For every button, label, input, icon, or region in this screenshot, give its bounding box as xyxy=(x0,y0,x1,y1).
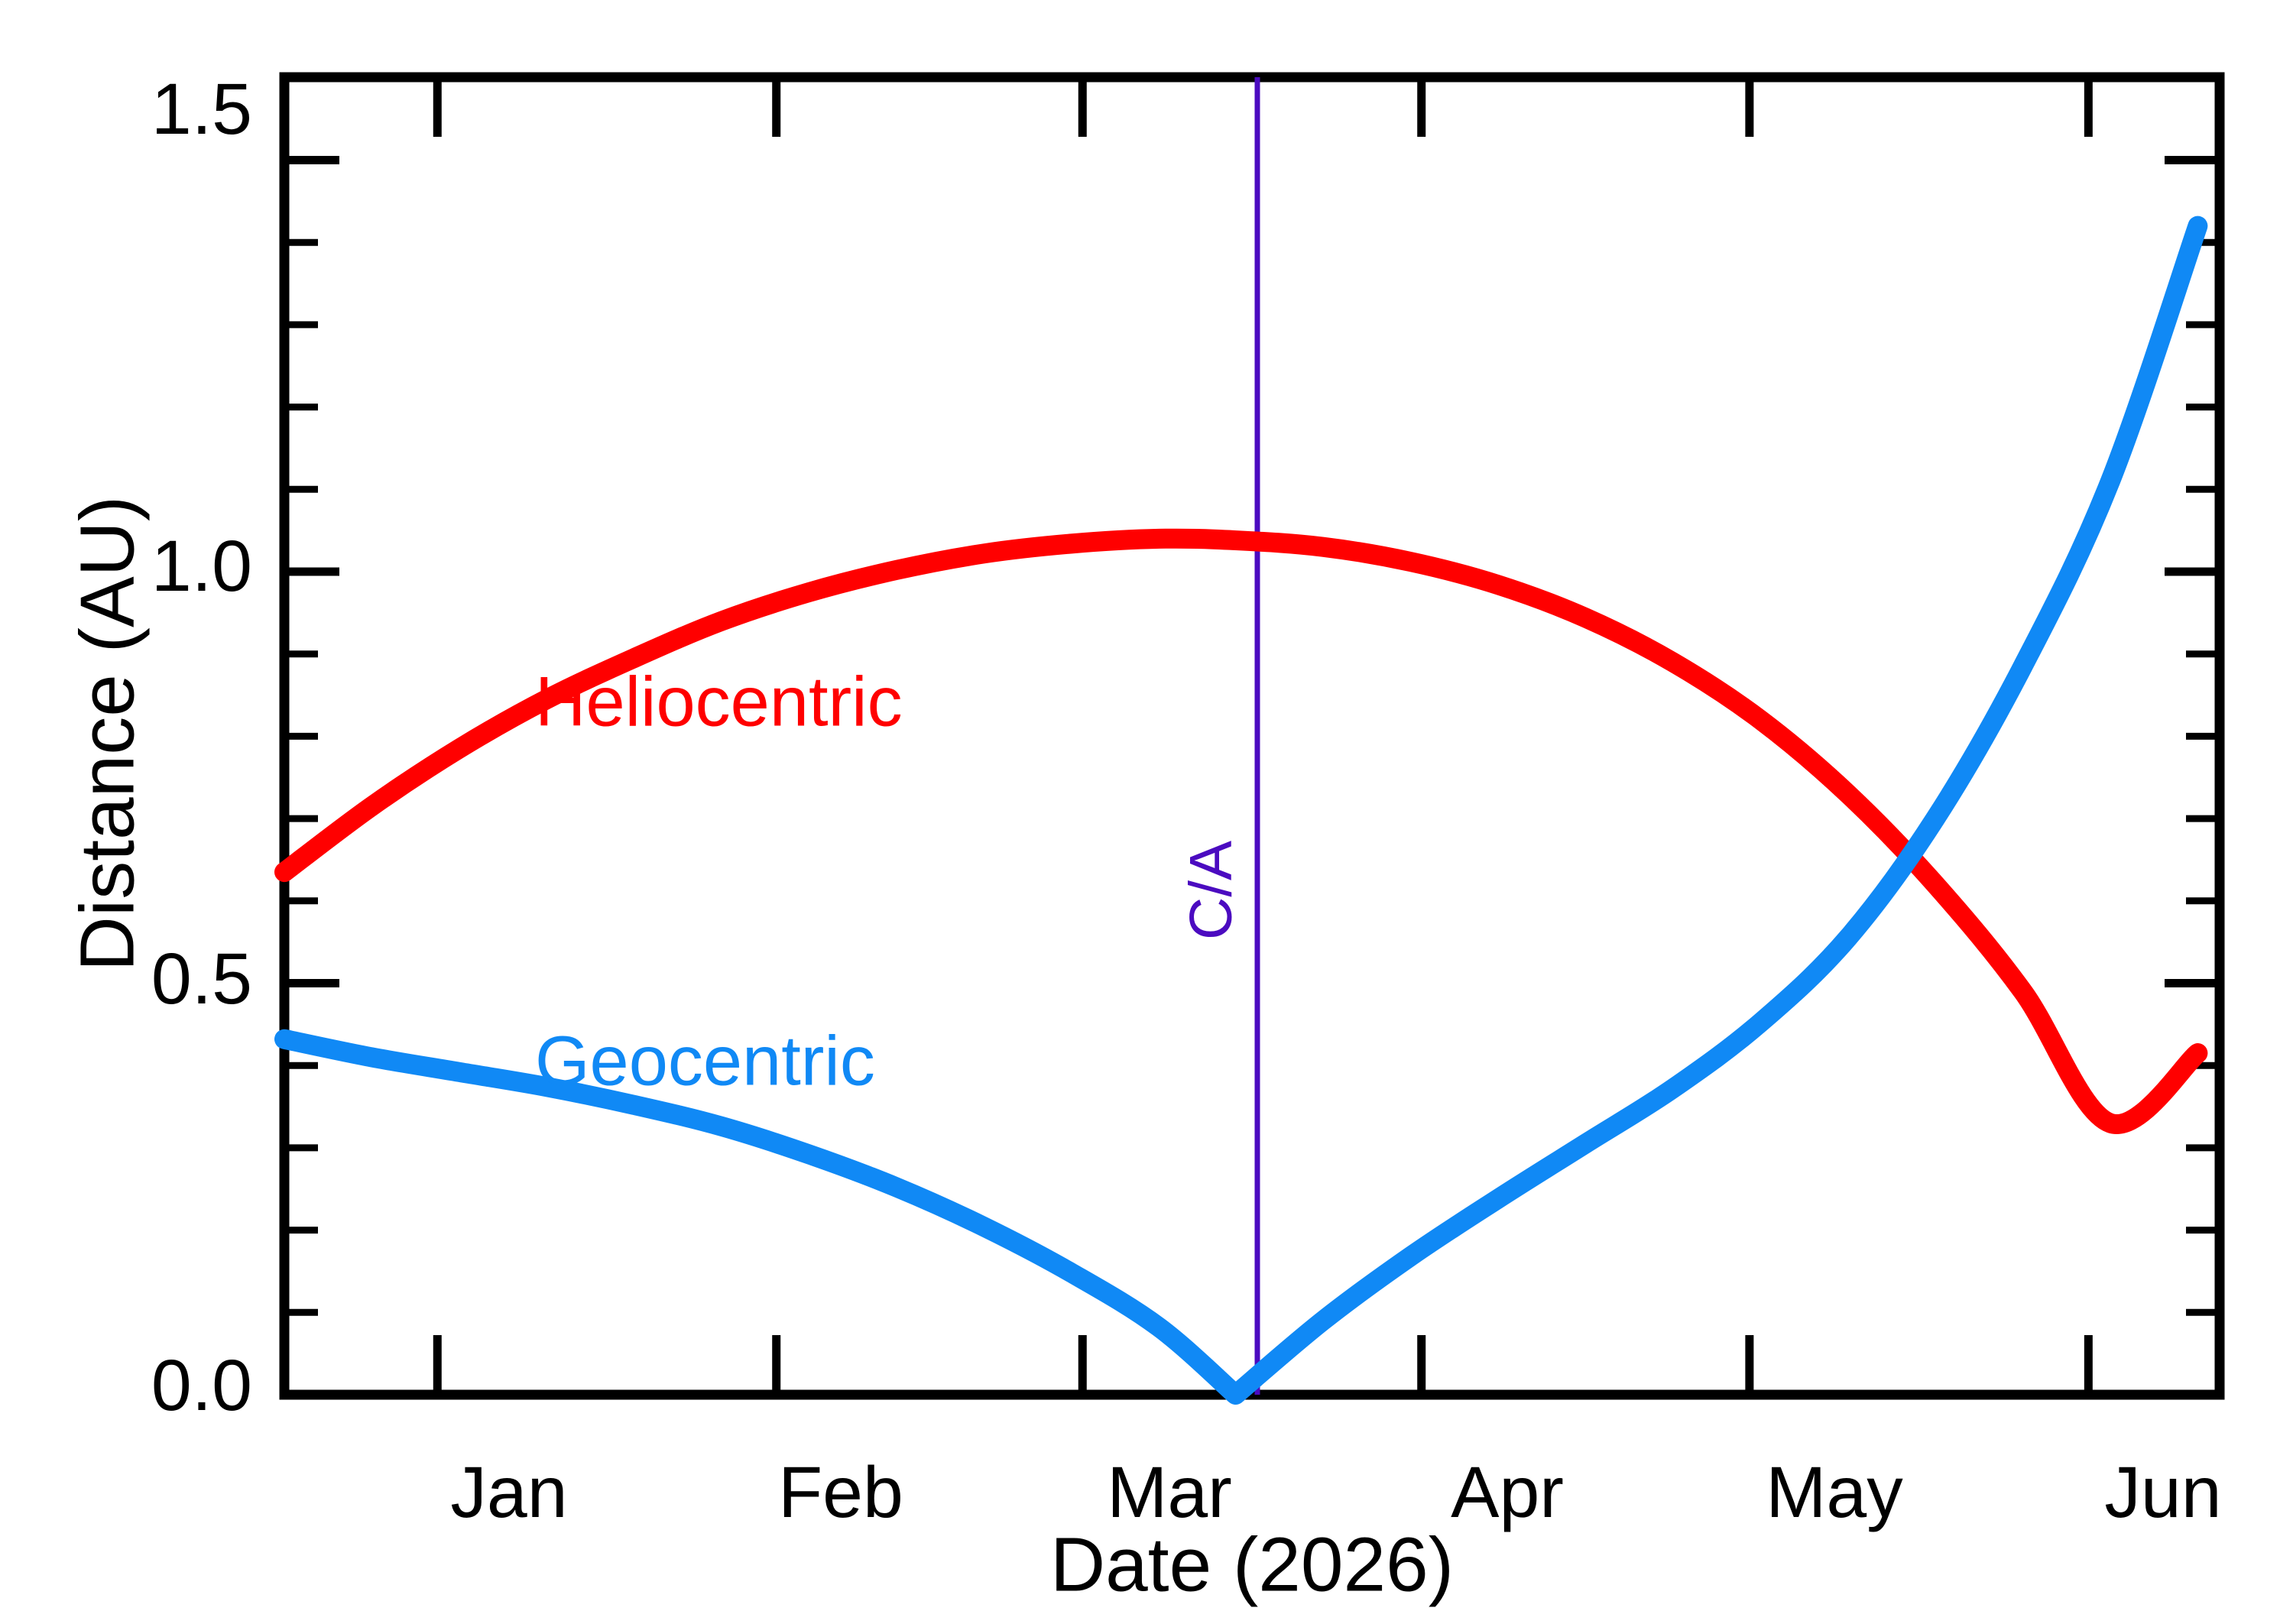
x-axis-title: Date (2026) xyxy=(1050,1522,1454,1607)
chart-figure: 1.5 1.0 0.5 0.0 Distance (AU) Jan Feb Ma… xyxy=(0,0,2293,1624)
y-tick-label-0p0: 0.0 xyxy=(151,1345,252,1426)
close-approach-label: C/A xyxy=(1177,841,1244,940)
x-tick-label-jan: Jan xyxy=(450,1452,567,1533)
x-tick-label-feb: Feb xyxy=(778,1452,903,1533)
y-axis-title: Distance (AU) xyxy=(64,496,150,971)
distance-vs-date-plot: 1.5 1.0 0.5 0.0 Distance (AU) Jan Feb Ma… xyxy=(0,0,2293,1624)
heliocentric-series-label: Heliocentric xyxy=(535,663,903,741)
geocentric-distance-curve xyxy=(284,226,2197,1395)
x-tick-label-may: May xyxy=(1766,1452,1903,1533)
x-tick-label-jun: Jun xyxy=(2104,1452,2221,1533)
y-tick-label-1p0: 1.0 xyxy=(151,526,252,607)
y-tick-label-1p5: 1.5 xyxy=(151,69,252,150)
x-tick-label-mar: Mar xyxy=(1107,1452,1232,1533)
geocentric-series-label: Geocentric xyxy=(535,1022,875,1100)
y-tick-label-0p5: 0.5 xyxy=(151,938,252,1019)
x-tick-label-apr: Apr xyxy=(1451,1452,1564,1533)
